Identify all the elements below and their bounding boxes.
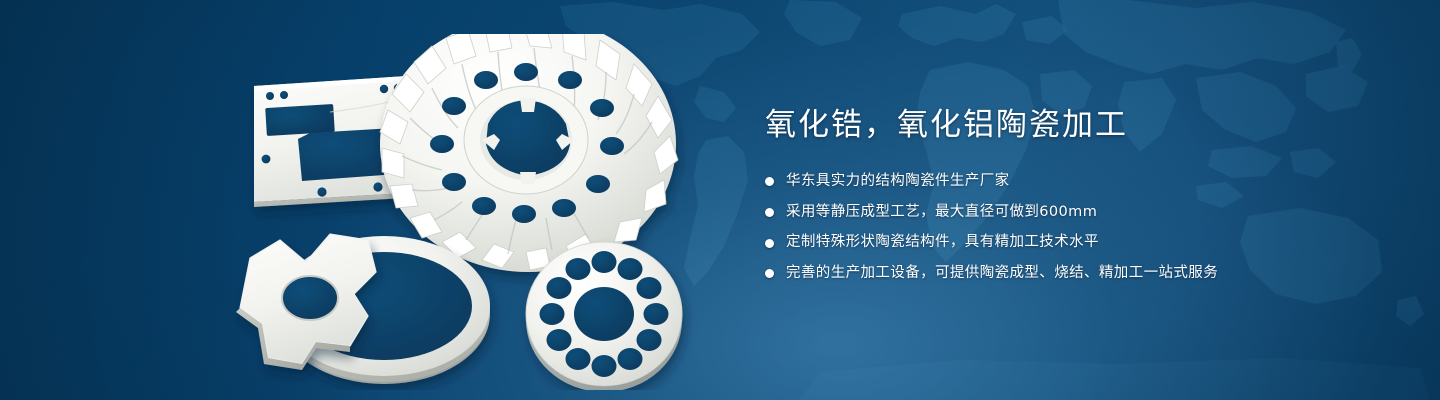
bullet-dot-icon	[765, 177, 774, 186]
feature-text: 完善的生产加工设备，可提供陶瓷成型、烧结、精加工一站式服务	[786, 263, 1218, 285]
bullet-dot-icon	[765, 269, 774, 278]
bullet-dot-icon	[765, 208, 774, 217]
bullet-dot-icon	[765, 239, 774, 248]
ceramic-impeller-disc	[380, 34, 678, 272]
ceramic-perforated-disc	[526, 242, 682, 390]
feature-text: 定制特殊形状陶瓷结构件，具有精加工技术水平	[786, 232, 1099, 254]
feature-text: 华东具实力的结构陶瓷件生产厂家	[786, 171, 1010, 193]
banner-headline: 氧化锆，氧化铝陶瓷加工	[765, 106, 1365, 145]
feature-list: 华东具实力的结构陶瓷件生产厂家 采用等静压成型工艺，最大直径可做到600mm 定…	[765, 171, 1365, 285]
feature-item: 完善的生产加工设备，可提供陶瓷成型、烧结、精加工一站式服务	[765, 263, 1365, 285]
feature-item: 华东具实力的结构陶瓷件生产厂家	[765, 171, 1365, 193]
feature-item: 采用等静压成型工艺，最大直径可做到600mm	[765, 202, 1365, 224]
feature-text: 采用等静压成型工艺，最大直径可做到600mm	[786, 202, 1097, 224]
hero-banner: 氧化锆，氧化铝陶瓷加工 华东具实力的结构陶瓷件生产厂家 采用等静压成型工艺，最大…	[0, 0, 1440, 400]
banner-copy: 氧化锆，氧化铝陶瓷加工 华东具实力的结构陶瓷件生产厂家 采用等静压成型工艺，最大…	[765, 106, 1365, 285]
feature-item: 定制特殊形状陶瓷结构件，具有精加工技术水平	[765, 232, 1365, 254]
ceramic-products-image	[232, 34, 732, 390]
